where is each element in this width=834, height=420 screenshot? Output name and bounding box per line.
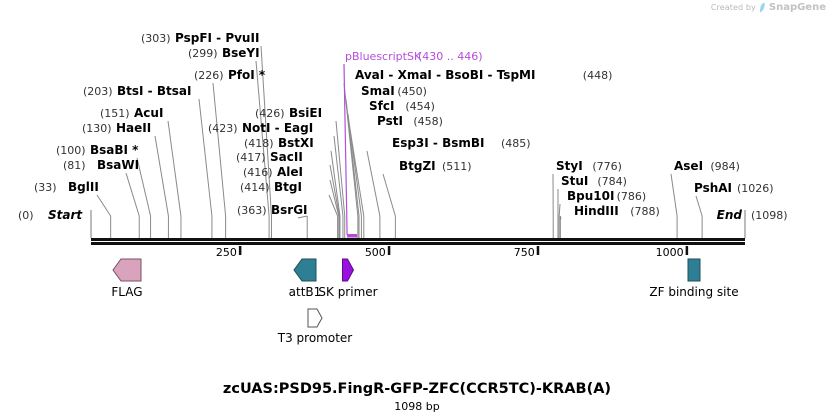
enzyme-label-group: (226)PfoI *	[194, 68, 266, 82]
highlight-range-label: (430 .. 446)	[418, 50, 483, 63]
watermark-brand: SnapGene	[769, 2, 826, 13]
enzyme-name-label: BglII	[68, 180, 99, 194]
enzyme-position-label: (303)	[141, 32, 171, 45]
enzyme-leader-line	[383, 174, 395, 216]
axis-tick	[239, 246, 242, 255]
feature-attb1[interactable]: attB1	[289, 259, 322, 299]
enzyme-label-group: AvaI - XmaI - BsoBI - TspMI(448)	[355, 68, 612, 82]
enzyme-position-label: (130)	[82, 122, 112, 135]
enzyme-label-group: Bpu10I(786)	[567, 189, 646, 203]
title-block: zcUAS:PSD95.FingR-GFP-ZFC(CCR5TC)-KRAB(A…	[223, 381, 611, 413]
highlight-name-label: pBluescriptSK	[345, 50, 422, 63]
right-arrow-feature[interactable]	[343, 259, 354, 281]
enzyme-name-label: AcuI	[134, 106, 163, 120]
enzyme-label-group: (130)HaeII	[82, 121, 151, 135]
feature-sk-primer[interactable]: SK primer	[318, 259, 377, 299]
enzyme-name-label: SacII	[270, 150, 303, 164]
enzyme-position-label: (203)	[83, 85, 113, 98]
feature-flag[interactable]: FLAG	[111, 259, 142, 299]
axis-tick-label: 750	[514, 246, 535, 259]
enzyme-label-group: StyI(776)	[556, 159, 622, 173]
enzyme-position-label: (226)	[194, 69, 224, 82]
enzyme-label-group: (414)BtgI	[240, 180, 302, 194]
feature-label: SK primer	[318, 285, 377, 299]
enzyme-label-group: (426)BsiEI	[255, 106, 322, 120]
enzyme-label-group: (33)BglII	[34, 180, 99, 194]
axis-tick-label: 1000	[656, 246, 684, 259]
feature-label: attB1	[289, 285, 322, 299]
enzyme-label-group: SmaI(450)	[361, 84, 427, 98]
enzyme-position-label: (151)	[100, 107, 130, 120]
enzyme-label-group: (416)AleI	[243, 165, 303, 179]
promoter-label: T3 promoter	[277, 331, 353, 345]
enzyme-label-group: (81)BsaWI	[63, 158, 139, 172]
enzyme-label-group: AseI(984)	[674, 159, 740, 173]
enzyme-name-label: PstI	[377, 114, 403, 128]
enzyme-label-group: (299)BseYI	[188, 46, 260, 60]
enzyme-leader-line	[97, 195, 111, 216]
enzyme-name-label: BtgZI	[399, 159, 436, 173]
enzyme-position-label: (458)	[413, 115, 443, 128]
enzyme-name-label: BsaWI	[97, 158, 139, 172]
enzyme-position-label: (363)	[237, 204, 267, 217]
enzyme-leader-line	[213, 83, 226, 216]
enzyme-label-group: PstI(458)	[377, 114, 443, 128]
enzyme-label-group: (417)SacII	[236, 150, 303, 164]
enzyme-name-label: AleI	[277, 165, 303, 179]
enzyme-leader-line	[367, 151, 380, 216]
axis-tick-label: 250	[216, 246, 237, 259]
enzyme-label-group: (423)NotI - EagI	[208, 121, 313, 135]
left-arrow-feature[interactable]	[113, 259, 141, 281]
feature-label: ZF binding site	[649, 285, 738, 299]
feature-t3-promoter[interactable]: T3 promoter	[277, 309, 353, 345]
enzyme-name-label: BstXI	[278, 136, 314, 150]
enzyme-leader-line	[155, 136, 168, 216]
enzyme-label-group: SfcI(454)	[369, 99, 435, 113]
enzyme-label-group: (151)AcuI	[100, 106, 163, 120]
snapgene-leaf-icon	[759, 2, 766, 13]
ruler-axis: 2505007501000	[216, 246, 688, 259]
enzyme-position-label: (100)	[56, 144, 86, 157]
sequence-backbone	[91, 238, 745, 245]
enzyme-leader-line	[199, 99, 212, 216]
enzyme-position-label: (414)	[240, 181, 270, 194]
feature-zf-binding-site[interactable]: ZF binding site	[649, 259, 738, 299]
box-feature[interactable]	[688, 259, 700, 281]
left-arrow-feature[interactable]	[294, 259, 316, 281]
enzyme-position-label: (984)	[710, 160, 740, 173]
watermark-prefix: Created by	[711, 3, 756, 12]
enzyme-label-group: (100)BsaBI *	[56, 143, 139, 157]
sequence-title: zcUAS:PSD95.FingR-GFP-ZFC(CCR5TC)-KRAB(A…	[223, 381, 611, 397]
enzyme-leader-line	[168, 121, 181, 216]
feature-label: FLAG	[111, 285, 142, 299]
enzyme-label-group: StuI(784)	[561, 174, 627, 188]
enzyme-name-label: BtsI - BtsaI	[117, 84, 191, 98]
feature-track: FLAGattB1SK primerZF binding siteT3 prom…	[111, 259, 738, 345]
enzyme-position-label: (511)	[442, 160, 472, 173]
enzyme-name-label: BtgI	[274, 180, 302, 194]
axis-tick-label: 500	[365, 246, 386, 259]
enzyme-name-label: BsiEI	[289, 106, 322, 120]
enzyme-name-label: AseI	[674, 159, 703, 173]
enzyme-label-group: (203)BtsI - BtsaI	[83, 84, 191, 98]
enzyme-position-label: (33)	[34, 181, 57, 194]
enzyme-position-label: (426)	[255, 107, 285, 120]
enzyme-name-label: Bpu10I	[567, 189, 614, 203]
highlight-region-bar	[347, 234, 357, 238]
enzyme-position-label: (776)	[592, 160, 622, 173]
enzyme-position-label: (485)	[501, 137, 531, 150]
enzyme-name-label: SfcI	[369, 99, 394, 113]
enzyme-position-label: (416)	[243, 166, 273, 179]
enzyme-position-label: (1026)	[737, 182, 774, 195]
enzyme-name-label: PshAI	[694, 181, 732, 195]
enzyme-leader-line	[331, 151, 340, 216]
enzyme-position-label: (786)	[617, 190, 647, 203]
enzyme-position-label: (418)	[244, 137, 274, 150]
enzyme-name-label: StuI	[561, 174, 588, 188]
enzyme-position-label: (448)	[583, 69, 613, 82]
enzyme-name-label: HindIII	[574, 204, 619, 218]
axis-tick	[537, 246, 540, 255]
enzyme-leader-line	[696, 196, 702, 216]
enzyme-tick-marks	[111, 216, 702, 238]
enzyme-position-label: (423)	[208, 122, 238, 135]
enzyme-name-label: Esp3I - BsmBI	[392, 136, 484, 150]
enzyme-position-label: (417)	[236, 151, 266, 164]
sequence-length-label: 1098 bp	[394, 400, 439, 413]
enzyme-position-label: (784)	[597, 175, 627, 188]
enzyme-name-label: PspFI - PvuII	[175, 31, 259, 45]
enzyme-label-group: (418)BstXI	[244, 136, 314, 150]
start-label: Start	[48, 208, 83, 222]
end-label: End	[717, 208, 743, 222]
enzyme-position-label: (454)	[405, 100, 435, 113]
enzyme-label-group: BtgZI(511)	[399, 159, 472, 173]
backbone-line-bottom	[91, 242, 745, 245]
enzyme-name-label: NotI - EagI	[242, 121, 313, 135]
enzyme-name-label: PfoI *	[228, 68, 266, 82]
end-position-label: (1098)	[751, 209, 788, 222]
enzyme-position-label: (299)	[188, 47, 218, 60]
enzyme-label-group: HindIII(788)	[574, 204, 660, 218]
enzyme-name-label: StyI	[556, 159, 583, 173]
enzyme-label-group: PshAI(1026)	[694, 181, 774, 195]
enzyme-name-label: BseYI	[222, 46, 260, 60]
enzyme-name-label: SmaI	[361, 84, 395, 98]
axis-tick	[686, 246, 689, 255]
enzyme-name-label: HaeII	[116, 121, 151, 135]
enzyme-name-label: BsrGI	[271, 203, 308, 217]
plasmid-map-canvas: 2505007501000FLAGattB1SK primerZF bindin…	[0, 0, 834, 420]
enzyme-label-group: (303)PspFI - PvuII	[141, 31, 259, 45]
enzyme-name-label: AvaI - XmaI - BsoBI - TspMI	[355, 68, 535, 82]
snapgene-watermark: Created by SnapGene	[711, 2, 826, 13]
backbone-line-top	[91, 238, 745, 241]
enzyme-position-label: (450)	[397, 85, 427, 98]
right-arrow-outline-feature[interactable]	[308, 309, 322, 327]
enzyme-leader-line	[126, 173, 139, 216]
start-position-label: (0)	[18, 209, 34, 222]
enzyme-leader-line	[559, 204, 560, 216]
enzyme-position-label: (81)	[63, 159, 86, 172]
plasmid-map: 2505007501000FLAGattB1SK primerZF bindin…	[0, 0, 834, 420]
enzyme-label-group: Esp3I - BsmBI(485)	[392, 136, 531, 150]
enzyme-label-group: (363)BsrGI	[237, 203, 308, 217]
enzyme-leader-line	[671, 174, 677, 216]
axis-tick	[388, 246, 391, 255]
enzyme-position-label: (788)	[630, 205, 660, 218]
enzyme-name-label: BsaBI *	[90, 143, 139, 157]
